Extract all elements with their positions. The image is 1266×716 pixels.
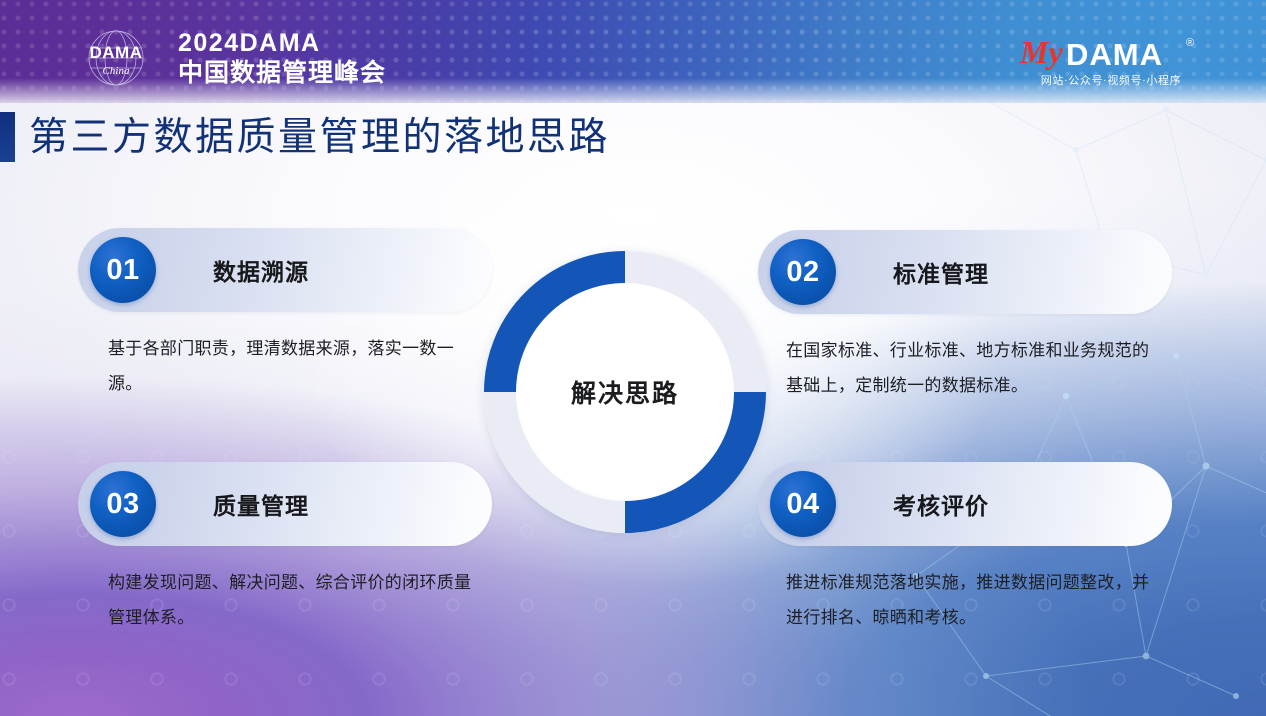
- card-04[interactable]: 04 考核评价 推进标准规范落地实施，推进数据问题整改，并进行排名、晾晒和考核。: [758, 462, 1178, 635]
- card-01[interactable]: 01 数据溯源 基于各部门职责，理清数据来源，落实一数一源。: [78, 228, 498, 401]
- card-03-number-badge: 03: [90, 471, 156, 537]
- card-01-number-badge: 01: [90, 237, 156, 303]
- dama-logo-text: DAMA: [90, 43, 143, 62]
- summit-logo-line1: 2024DAMA: [178, 29, 321, 57]
- donut-center-label: 解决思路: [468, 235, 782, 549]
- card-04-heading: 考核评价: [893, 462, 989, 546]
- dama-logo-sub: China: [103, 65, 130, 77]
- card-02-body: 在国家标准、行业标准、地方标准和业务规范的基础上，定制统一的数据标准。: [786, 333, 1164, 403]
- slide-root: DAMA China 2024DAMA 中国数据管理峰会 My DAMA ® 网…: [0, 0, 1266, 716]
- card-01-heading: 数据溯源: [213, 228, 309, 312]
- card-04-pill: 04 考核评价: [758, 462, 1172, 546]
- card-02-number-badge: 02: [770, 239, 836, 305]
- card-01-body: 基于各部门职责，理清数据来源，落实一数一源。: [108, 331, 480, 401]
- card-03-body: 构建发现问题、解决问题、综合评价的闭环质量管理体系。: [108, 565, 480, 635]
- mydama-logo-brand: DAMA: [1066, 37, 1163, 72]
- header-bottom-fade: [0, 78, 1266, 103]
- card-03[interactable]: 03 质量管理 构建发现问题、解决问题、综合评价的闭环质量管理体系。: [78, 462, 498, 635]
- page-title: 第三方数据质量管理的落地思路: [29, 113, 610, 162]
- card-01-pill: 01 数据溯源: [78, 228, 492, 312]
- card-02-heading: 标准管理: [893, 230, 989, 314]
- mydama-registered-icon: ®: [1186, 37, 1194, 49]
- card-02[interactable]: 02 标准管理 在国家标准、行业标准、地方标准和业务规范的基础上，定制统一的数据…: [758, 230, 1178, 403]
- card-03-pill: 03 质量管理: [78, 462, 492, 546]
- mydama-logo-prefix: My: [1019, 34, 1063, 70]
- card-02-pill: 02 标准管理: [758, 230, 1172, 314]
- title-accent-bar: [0, 112, 15, 162]
- card-03-heading: 质量管理: [213, 462, 309, 546]
- card-04-body: 推进标准规范落地实施，推进数据问题整改，并进行排名、晾晒和考核。: [786, 565, 1164, 635]
- card-04-number-badge: 04: [770, 471, 836, 537]
- header-band: DAMA China 2024DAMA 中国数据管理峰会 My DAMA ® 网…: [0, 0, 1266, 103]
